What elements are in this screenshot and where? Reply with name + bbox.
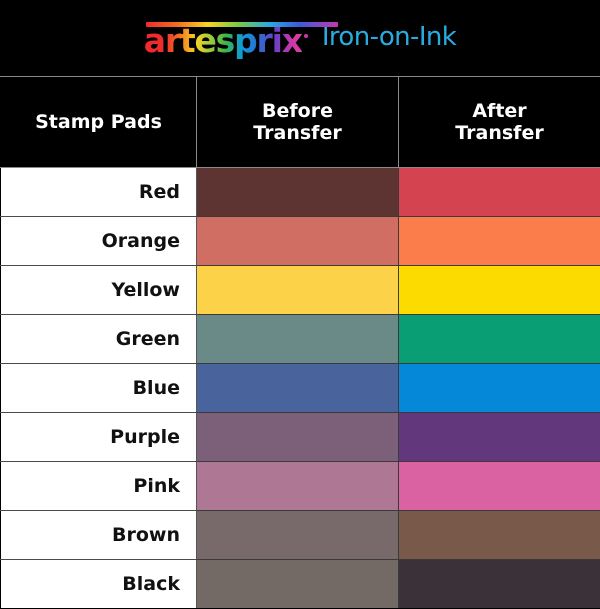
swatch-before-yellow (197, 266, 399, 315)
table-row: Green (1, 315, 600, 364)
swatch-before-pink (197, 462, 399, 511)
color-name-cell: Black (1, 560, 197, 609)
table-row: Black (1, 560, 600, 609)
color-name-cell: Purple (1, 413, 197, 462)
column-header-before-transfer: Before Transfer (197, 77, 399, 168)
table-body: RedOrangeYellowGreenBluePurplePinkBrownB… (1, 168, 600, 609)
table-header: Stamp Pads Before Transfer After Transfe… (1, 77, 600, 168)
column-header-before-line1: Before (262, 100, 333, 122)
swatch-after-pink (399, 462, 600, 511)
swatch-before-red (197, 168, 399, 217)
swatch-before-black (197, 560, 399, 609)
color-name-cell: Yellow (1, 266, 197, 315)
swatch-after-yellow (399, 266, 600, 315)
color-name-cell: Green (1, 315, 197, 364)
column-header-before-line2: Transfer (253, 122, 341, 144)
swatch-after-black (399, 560, 600, 609)
column-header-stamp-pads: Stamp Pads (1, 77, 197, 168)
artesprix-logo: artesprix (144, 16, 308, 61)
swatch-before-purple (197, 413, 399, 462)
swatch-after-orange (399, 217, 600, 266)
color-name-cell: Orange (1, 217, 197, 266)
table-row: Yellow (1, 266, 600, 315)
table-row: Pink (1, 462, 600, 511)
swatch-after-brown (399, 511, 600, 560)
table-row: Brown (1, 511, 600, 560)
swatch-after-blue (399, 364, 600, 413)
swatch-before-brown (197, 511, 399, 560)
swatch-before-blue (197, 364, 399, 413)
column-header-after-line1: After (472, 100, 526, 122)
brand-header: artesprix Iron-on-Ink (0, 0, 600, 76)
column-header-after-transfer: After Transfer (399, 77, 600, 168)
color-name-cell: Pink (1, 462, 197, 511)
color-name-cell: Red (1, 168, 197, 217)
table-row: Purple (1, 413, 600, 462)
table-row: Orange (1, 217, 600, 266)
color-name-cell: Brown (1, 511, 197, 560)
column-header-after-line2: Transfer (455, 122, 543, 144)
table-row: Blue (1, 364, 600, 413)
table-header-row: Stamp Pads Before Transfer After Transfe… (1, 77, 600, 168)
color-name-cell: Blue (1, 364, 197, 413)
table-row: Red (1, 168, 600, 217)
swatch-after-purple (399, 413, 600, 462)
stamp-pad-color-table: Stamp Pads Before Transfer After Transfe… (0, 76, 600, 609)
rainbow-bar-icon (146, 22, 338, 27)
swatch-before-orange (197, 217, 399, 266)
color-chart-page: artesprix Iron-on-Ink Stamp Pads Before … (0, 0, 600, 600)
swatch-before-green (197, 315, 399, 364)
trademark-dot-icon (304, 34, 308, 38)
swatch-after-red (399, 168, 600, 217)
tagline: Iron-on-Ink (322, 24, 456, 52)
column-header-stamp-pads-label: Stamp Pads (35, 111, 162, 133)
swatch-after-green (399, 315, 600, 364)
brand-name: artesprix (144, 22, 302, 61)
